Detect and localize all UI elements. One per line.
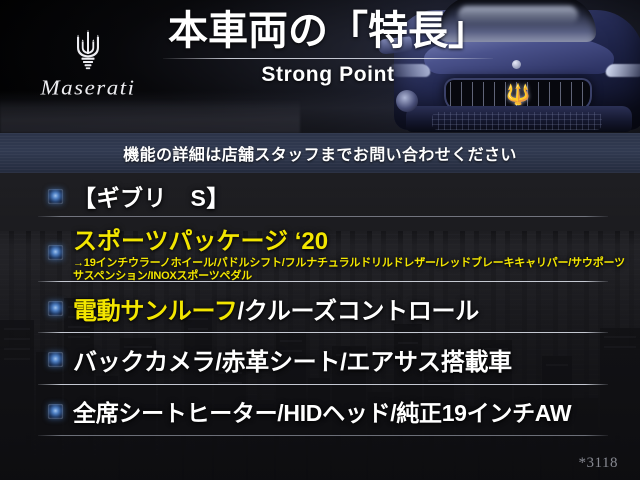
feature-segment-sunroof: 電動サンルーフ [73,298,237,325]
maserati-trident-icon [68,30,108,74]
car-hood-badge-icon [512,60,521,69]
list-item: 【ギブリ S】 [0,179,640,213]
list-item: 全席シートヒーター/HIDヘッド/純正19インチAW [0,389,640,433]
feature-line-package-detail: →19インチウラーノホイール/パドルシフト/フルナチュラルドリルドレザー/レッド… [73,257,640,284]
list-divider [38,216,608,217]
hero-floor-highlight [0,99,300,133]
hero-title-divider [163,58,493,59]
feature-text: 全席シートヒーター/HIDヘッド/純正19インチAW [73,394,640,428]
car-headlight-right [604,64,640,77]
car-bumper-mesh [432,112,602,130]
feature-text: 電動サンルーフ/クルーズコントロール [73,291,640,326]
feature-line-model: 【ギブリ S】 [73,179,640,213]
list-divider [38,384,608,385]
list-item: スポーツパッケージ ‘20 →19インチウラーノホイール/パドルシフト/フルナチ… [0,223,640,281]
maserati-logo: Maserati [18,28,158,99]
list-divider [38,332,608,333]
list-item: バックカメラ/赤革シート/エアサス搭載車 [0,337,640,381]
blue-square-bullet-icon [48,189,63,204]
trident-icon-wrap [18,28,158,74]
feature-line-package-title: スポーツパッケージ ‘20 [73,221,640,256]
maserati-wordmark: Maserati [18,77,158,98]
hero-title-block: 本車両の「特長」 Strong Point [163,10,493,87]
hero-banner: 🔱 [0,0,640,133]
list-item: 電動サンルーフ/クルーズコントロール [0,286,640,330]
hero-subtitle-english: Strong Point [163,63,493,87]
grille-trident-icon: 🔱 [506,85,531,105]
feature-line-heater-hid-aw: 全席シートヒーター/HIDヘッド/純正19インチAW [73,394,640,428]
car-fog-lamp-left [396,90,418,112]
blue-square-bullet-icon [48,245,63,260]
vehicle-feature-slide: 🔱 [0,0,640,480]
watermark-code: *3118 [579,455,618,472]
feature-text: スポーツパッケージ ‘20 →19インチウラーノホイール/パドルシフト/フルナチ… [73,221,640,284]
feature-line-camera-seats: バックカメラ/赤革シート/エアサス搭載車 [73,342,640,377]
hero-title-japanese: 本車両の「特長」 [163,10,493,52]
blue-square-bullet-icon [48,352,63,367]
feature-list-section: 【ギブリ S】 スポーツパッケージ ‘20 →19インチウラーノホイール/パドル… [0,173,640,480]
feature-list: 【ギブリ S】 スポーツパッケージ ‘20 →19インチウラーノホイール/パドル… [0,173,640,480]
feature-segment-cruise: /クルーズコントロール [237,298,478,325]
blue-square-bullet-icon [48,301,63,316]
feature-text: 【ギブリ S】 [73,179,640,213]
list-divider [38,281,608,282]
list-divider [38,435,608,436]
blue-square-bullet-icon [48,404,63,419]
notice-bar-text: 機能の詳細は店舗スタッフまでお問い合わせください [123,141,517,165]
feature-text: バックカメラ/赤革シート/エアサス搭載車 [73,342,640,377]
notice-bar: 機能の詳細は店舗スタッフまでお問い合わせください [0,133,640,173]
